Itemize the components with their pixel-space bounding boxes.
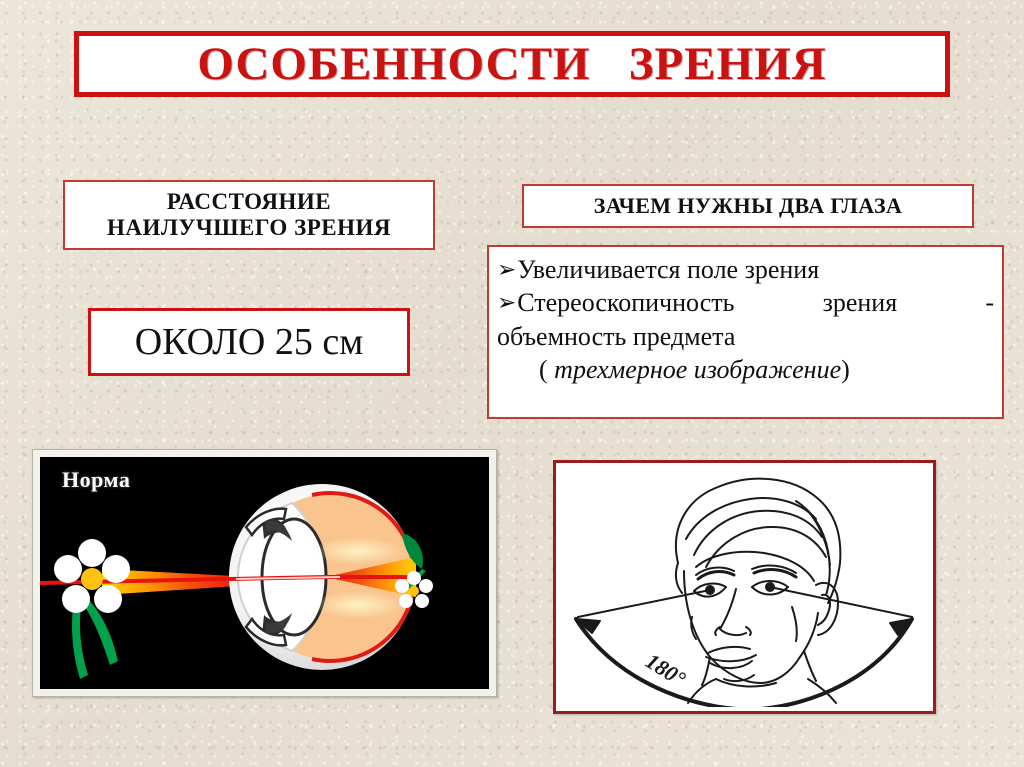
left-heading-line-1: РАССТОЯНИЕ	[167, 189, 331, 215]
bullet-paren-line: ( трехмерное изображение)	[497, 353, 994, 386]
right-heading-box: ЗАЧЕМ НУЖНЫ ДВА ГЛАЗА	[522, 184, 974, 228]
field-of-view-figure: 180°	[553, 460, 936, 714]
best-vision-distance-value: ОКОЛО 25 см	[135, 323, 364, 361]
arrow-bullet-icon: ➢	[497, 288, 516, 317]
paren-close: )	[841, 355, 850, 384]
bullet-continuation-line: объемность предмета	[497, 320, 994, 353]
head-drawing-svg: 180°	[560, 467, 929, 707]
paren-open: (	[539, 355, 554, 384]
head-bg	[560, 467, 929, 707]
bullet-item-2-text-end: -	[985, 286, 994, 319]
slide-canvas: ОСОБЕННОСТИ ЗРЕНИЯ РАССТОЯНИЕ НАИЛУЧШЕГО…	[0, 0, 1024, 767]
arrow-bullet-icon: ➢	[497, 255, 516, 284]
vitreous-glow-top	[312, 537, 404, 565]
bullet-item-2-text-start: Стереоскопичность	[517, 288, 734, 317]
left-value-box: ОКОЛО 25 см	[88, 308, 410, 376]
field-of-view-canvas: 180°	[560, 467, 929, 707]
vitreous-glow-bottom	[312, 591, 404, 619]
bullet-item-1: ➢Увеличивается поле зрения	[497, 253, 994, 286]
paren-italic-text: трехмерное изображение	[554, 355, 841, 384]
left-heading-line-2: НАИЛУЧШЕГО ЗРЕНИЯ	[107, 215, 391, 241]
right-bullets-box: ➢Увеличивается поле зрения ➢Стереоскопич…	[487, 245, 1004, 419]
bullet-item-2-text-mid: зрения	[823, 286, 898, 319]
right-heading-label: ЗАЧЕМ НУЖНЫ ДВА ГЛАЗА	[594, 193, 903, 219]
bullet-item-2: ➢Стереоскопичность зрения -	[497, 286, 994, 319]
bullet-item-2-head: ➢Стереоскопичность	[497, 286, 734, 319]
left-heading-box: РАССТОЯНИЕ НАИЛУЧШЕГО ЗРЕНИЯ	[63, 180, 435, 250]
bullet-item-1-text: Увеличивается поле зрения	[517, 255, 819, 284]
eye-diagram-caption: Норма	[62, 467, 130, 493]
eye-diagram-canvas: Норма	[40, 457, 489, 689]
slide-title-box: ОСОБЕННОСТИ ЗРЕНИЯ	[74, 31, 950, 97]
eye-diagram-figure: Норма	[32, 449, 497, 697]
page-title: ОСОБЕННОСТИ ЗРЕНИЯ	[197, 41, 826, 88]
